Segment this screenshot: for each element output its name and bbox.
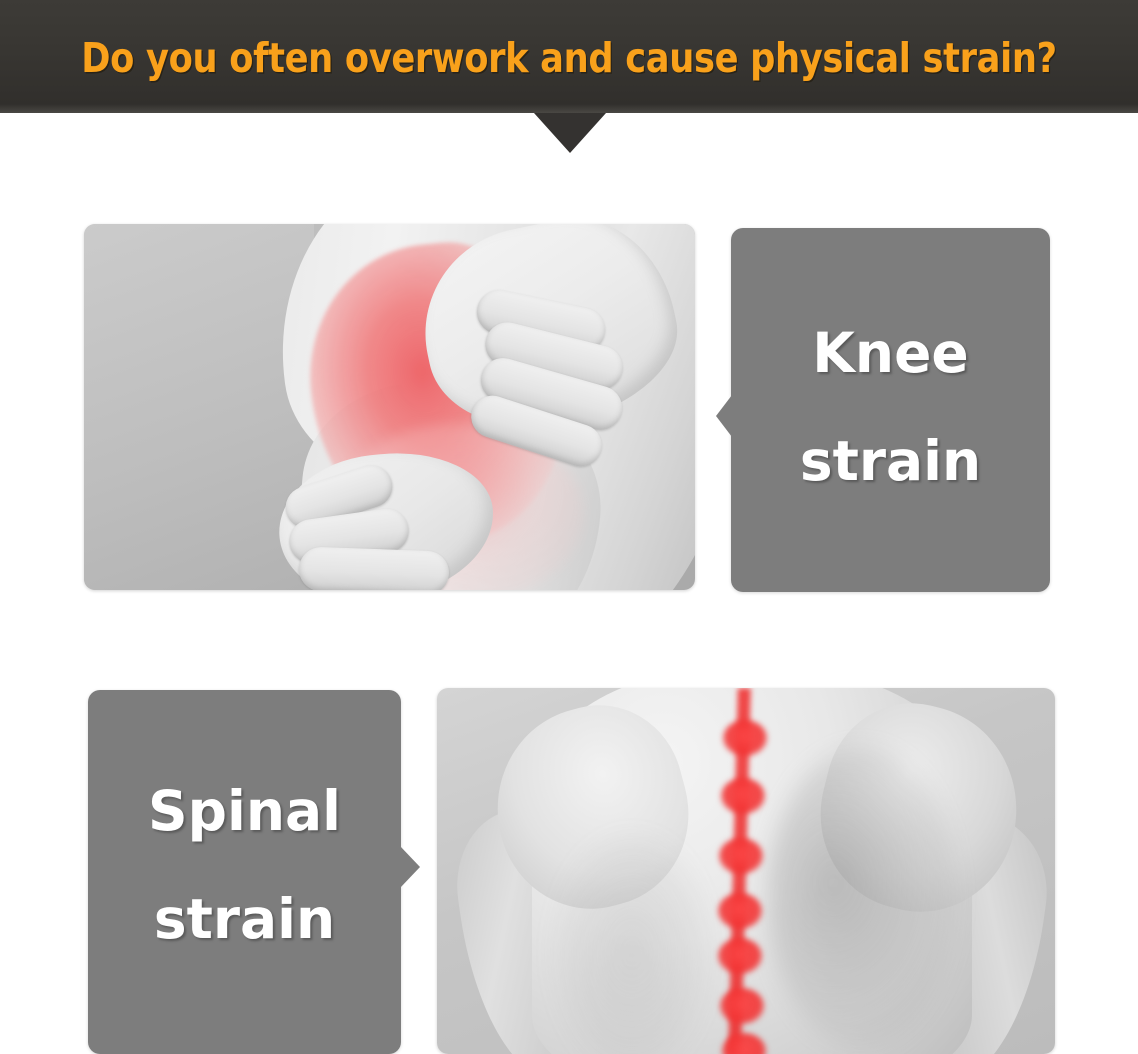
knee-strain-callout: Knee strain	[731, 228, 1050, 592]
knee-strain-label-line1: Knee	[731, 326, 1050, 381]
spinal-strain-callout: Spinal strain	[88, 690, 401, 1054]
knee-pain-photo	[84, 224, 695, 590]
spinal-strain-label-line2: strain	[88, 892, 401, 947]
spinal-strain-label-line1: Spinal	[88, 784, 401, 839]
page-title: Do you often overwork and cause physical…	[80, 0, 1059, 113]
callout-tail-left-icon	[716, 395, 732, 437]
vertebra-dot	[718, 893, 762, 929]
triangle-down-icon	[534, 113, 606, 153]
callout-tail-right-icon	[400, 846, 420, 888]
vertebra-dot	[720, 988, 764, 1024]
vertebra-dot	[719, 838, 763, 874]
shadow-shape	[767, 748, 957, 1048]
spinal-pain-photo	[437, 688, 1055, 1054]
knee-strain-label-line2: strain	[731, 434, 1050, 489]
vertebra-dot	[718, 938, 762, 974]
vertebra-dot	[721, 778, 765, 814]
vertebra-dot	[723, 720, 767, 756]
shadow-shape	[557, 838, 707, 1054]
finger-shape	[298, 546, 449, 590]
header-banner: Do you often overwork and cause physical…	[0, 0, 1138, 113]
